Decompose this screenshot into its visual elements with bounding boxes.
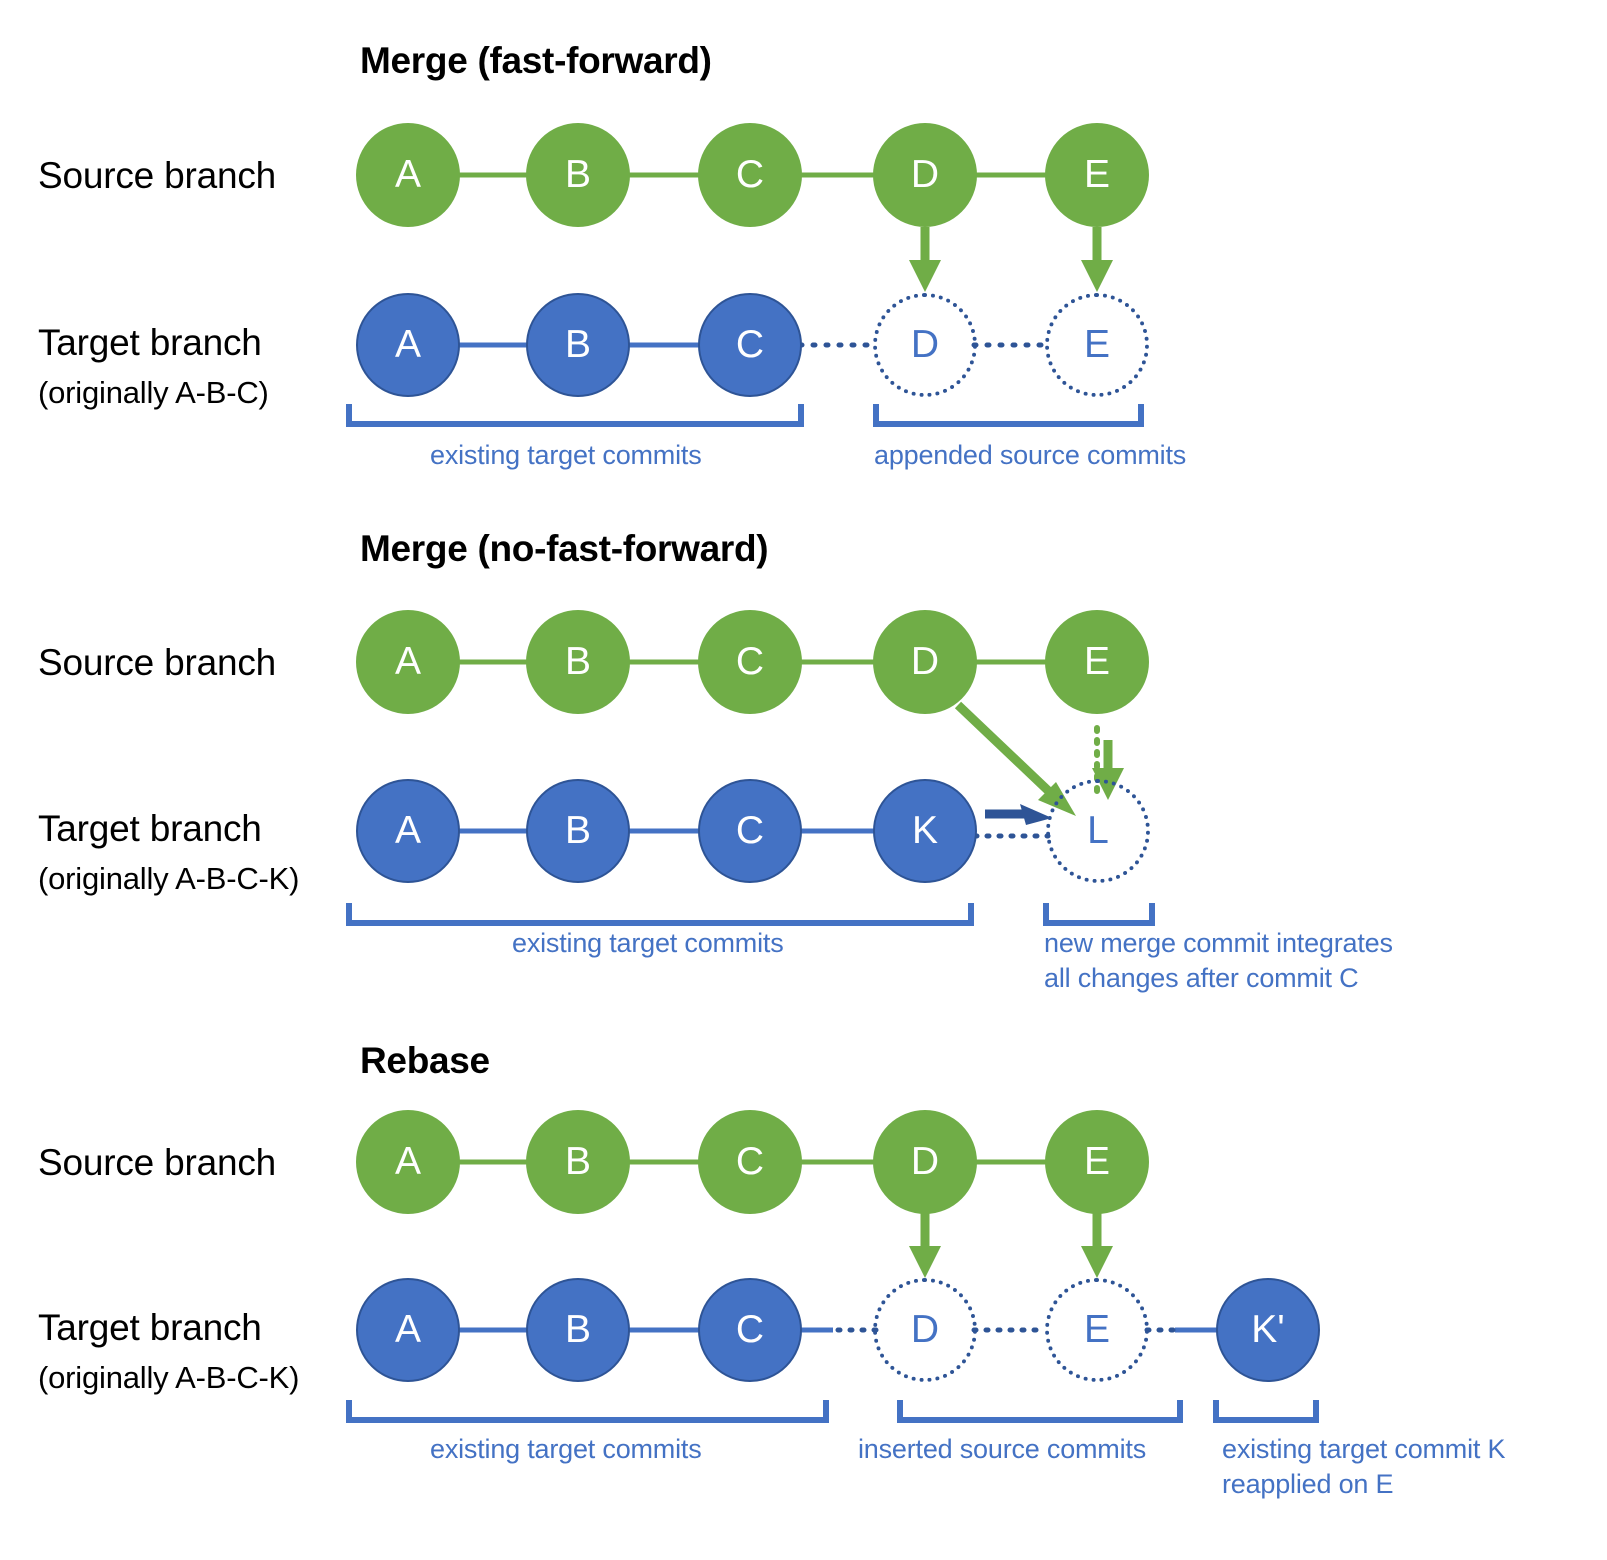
commit-label: B: [565, 325, 591, 364]
commit-label: E: [1084, 642, 1110, 681]
s3-caption-line2: reapplied on E: [1222, 1467, 1505, 1502]
commit-node-source-e[interactable]: E: [1045, 610, 1149, 714]
commit-label: B: [565, 155, 591, 194]
commit-label: C: [736, 1142, 764, 1181]
s2-caption-new-merge-commit: new merge commit integrates all changes …: [1044, 926, 1393, 995]
s2-target-branch-label: Target branch: [38, 808, 262, 850]
commit-label: D: [911, 155, 939, 194]
s1-caption-appended-source-commits: appended source commits: [874, 438, 1186, 473]
commit-label: A: [395, 155, 421, 194]
commit-label: K: [912, 811, 938, 850]
commit-node-target-c[interactable]: C: [698, 293, 802, 397]
commit-node-target-a[interactable]: A: [356, 779, 460, 883]
commit-node-target-l-merge-ghost[interactable]: L: [1046, 779, 1150, 883]
commit-node-target-d-ghost[interactable]: D: [873, 293, 977, 397]
commit-label: B: [565, 1310, 591, 1349]
s1-source-branch-label: Source branch: [38, 155, 276, 197]
commit-node-source-a[interactable]: A: [356, 610, 460, 714]
commit-node-source-e[interactable]: E: [1045, 123, 1149, 227]
commit-node-source-a[interactable]: A: [356, 123, 460, 227]
commit-label: C: [736, 642, 764, 681]
commit-label: C: [736, 155, 764, 194]
commit-node-target-b[interactable]: B: [526, 779, 630, 883]
section-title-rebase: Rebase: [360, 1040, 490, 1082]
commit-label: C: [736, 325, 764, 364]
git-merge-rebase-diagram: Merge (fast-forward) Source branch Targe…: [0, 0, 1607, 1560]
commit-node-source-b[interactable]: B: [526, 123, 630, 227]
s3-arrow-d: [909, 1212, 941, 1278]
s1-caption-existing-target-commits: existing target commits: [430, 438, 702, 473]
commit-label: C: [736, 1310, 764, 1349]
commit-node-target-b[interactable]: B: [526, 293, 630, 397]
s2-arrow-k-to-l: [985, 804, 1052, 825]
s2-bracket-merge-commit: [1046, 903, 1152, 923]
section-title-merge-no-fast-forward: Merge (no-fast-forward): [360, 528, 768, 570]
s3-target-branch-sublabel: (originally A-B-C-K): [38, 1360, 299, 1396]
s3-bracket-inserted: [900, 1400, 1180, 1420]
commit-node-target-e-ghost[interactable]: E: [1045, 1278, 1149, 1382]
commit-node-target-b[interactable]: B: [526, 1278, 630, 1382]
commit-label: D: [911, 642, 939, 681]
s3-caption-existing-target-commits: existing target commits: [430, 1432, 702, 1467]
commit-label: C: [736, 811, 764, 850]
commit-node-target-c[interactable]: C: [698, 1278, 802, 1382]
commit-label: A: [395, 1310, 421, 1349]
commit-label: B: [565, 642, 591, 681]
s1-bracket-existing: [349, 404, 801, 424]
section-title-merge-fast-forward: Merge (fast-forward): [360, 40, 712, 82]
s3-arrow-e: [1081, 1212, 1113, 1278]
commit-label: D: [911, 1142, 939, 1181]
s2-caption-existing-target-commits: existing target commits: [512, 926, 784, 961]
commit-label: E: [1084, 1310, 1110, 1349]
commit-node-target-a[interactable]: A: [356, 1278, 460, 1382]
commit-node-source-d[interactable]: D: [873, 123, 977, 227]
commit-label: L: [1087, 811, 1109, 850]
s3-source-branch-label: Source branch: [38, 1142, 276, 1184]
commit-node-source-e[interactable]: E: [1045, 1110, 1149, 1214]
commit-node-source-c[interactable]: C: [698, 610, 802, 714]
commit-node-source-c[interactable]: C: [698, 123, 802, 227]
commit-node-source-a[interactable]: A: [356, 1110, 460, 1214]
commit-label: D: [911, 325, 939, 364]
commit-node-source-d[interactable]: D: [873, 610, 977, 714]
commit-label: B: [565, 811, 591, 850]
commit-label: A: [395, 642, 421, 681]
commit-node-source-b[interactable]: B: [526, 1110, 630, 1214]
s1-arrow-d: [909, 227, 941, 292]
commit-label: D: [911, 1310, 939, 1349]
commit-node-target-c[interactable]: C: [698, 779, 802, 883]
s2-source-branch-label: Source branch: [38, 642, 276, 684]
commit-label: E: [1084, 155, 1110, 194]
commit-label: A: [395, 1142, 421, 1181]
s2-caption-line2: all changes after commit C: [1044, 961, 1393, 996]
s2-bracket-existing: [349, 903, 971, 923]
commit-node-target-d-ghost[interactable]: D: [873, 1278, 977, 1382]
commit-node-target-k-prime[interactable]: K': [1216, 1278, 1320, 1382]
s3-caption-reapplied-commit: existing target commit K reapplied on E: [1222, 1432, 1505, 1501]
s1-bracket-appended: [876, 404, 1141, 424]
commit-node-target-k[interactable]: K: [873, 779, 977, 883]
s2-target-branch-sublabel: (originally A-B-C-K): [38, 861, 299, 897]
s3-caption-inserted-source-commits: inserted source commits: [858, 1432, 1146, 1467]
s3-bracket-existing: [349, 1400, 826, 1420]
commit-label: A: [395, 325, 421, 364]
commit-node-source-c[interactable]: C: [698, 1110, 802, 1214]
s3-caption-line1: existing target commit K: [1222, 1432, 1505, 1467]
commit-label: B: [565, 1142, 591, 1181]
commit-node-target-e-ghost[interactable]: E: [1045, 293, 1149, 397]
s3-target-branch-label: Target branch: [38, 1307, 262, 1349]
commit-node-target-a[interactable]: A: [356, 293, 460, 397]
s3-bracket-reapplied: [1216, 1400, 1316, 1420]
commit-label: A: [395, 811, 421, 850]
s1-arrow-e: [1081, 227, 1113, 292]
commit-label: E: [1084, 325, 1110, 364]
s1-target-branch-label: Target branch: [38, 322, 262, 364]
commit-node-source-b[interactable]: B: [526, 610, 630, 714]
commit-label: E: [1084, 1142, 1110, 1181]
commit-label: K': [1251, 1310, 1284, 1349]
s2-caption-line1: new merge commit integrates: [1044, 926, 1393, 961]
commit-node-source-d[interactable]: D: [873, 1110, 977, 1214]
s1-target-branch-sublabel: (originally A-B-C): [38, 375, 269, 411]
